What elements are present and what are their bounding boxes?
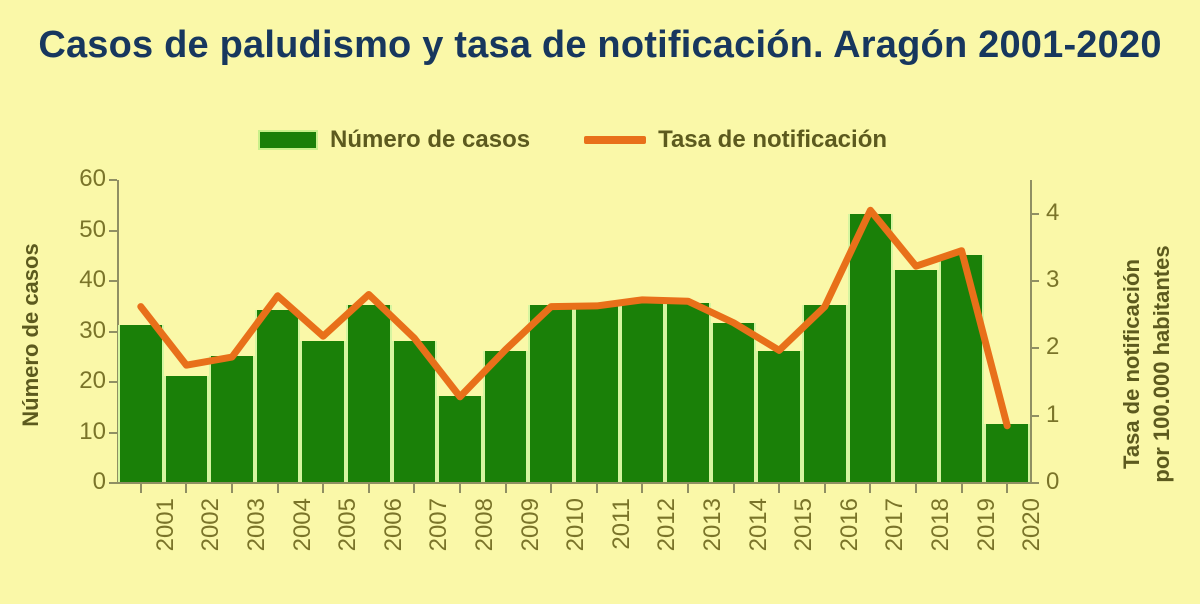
legend-bar-swatch-icon — [258, 130, 318, 150]
legend-line-swatch-icon — [584, 136, 646, 144]
x-axis-tick-label: 2006 — [380, 498, 408, 551]
legend-label-casos: Número de casos — [330, 126, 530, 154]
y-left-tick — [109, 381, 117, 383]
x-axis-tick-label: 2008 — [471, 498, 499, 551]
x-axis-tick-label: 2020 — [1018, 498, 1046, 551]
x-axis-tick — [277, 483, 279, 493]
y-right-tick-label: 0 — [1046, 470, 1106, 494]
x-axis-tick — [733, 483, 735, 493]
x-axis-tick — [185, 483, 187, 493]
x-axis-tick-label: 2017 — [881, 498, 909, 551]
legend-item-casos: Número de casos — [258, 126, 530, 154]
chart-page: Casos de paludismo y tasa de notificació… — [0, 0, 1200, 604]
y-left-tick-label: 20 — [36, 369, 106, 393]
x-axis-tick — [140, 483, 142, 493]
x-axis-tick — [961, 483, 963, 493]
x-axis-tick — [505, 483, 507, 493]
y-axis-right-title-line2: por 100.000 habitantes — [1147, 229, 1177, 499]
line-series-tasa — [118, 180, 1030, 483]
y-right-tick-label: 1 — [1046, 403, 1106, 427]
x-axis-tick-label: 2013 — [699, 498, 727, 551]
x-axis-tick — [368, 483, 370, 493]
x-axis-tick-label: 2003 — [243, 498, 271, 551]
y-left-tick-label: 60 — [36, 167, 106, 191]
x-axis-tick — [459, 483, 461, 493]
y-left-tick — [109, 230, 117, 232]
x-axis-tick — [550, 483, 552, 493]
x-axis-tick-label: 2004 — [289, 498, 317, 551]
x-axis-tick-label: 2009 — [517, 498, 545, 551]
y-right-tick-label: 2 — [1046, 335, 1106, 359]
x-axis-tick — [231, 483, 233, 493]
x-axis-tick — [1006, 483, 1008, 493]
y-left-tick-label: 0 — [36, 470, 106, 494]
y-right-tick — [1031, 415, 1039, 417]
y-left-tick — [109, 280, 117, 282]
axis-right-line — [1030, 180, 1032, 484]
chart-title: Casos de paludismo y tasa de notificació… — [0, 24, 1200, 67]
x-axis-tick-label: 2002 — [197, 498, 225, 551]
x-axis-tick — [778, 483, 780, 493]
x-axis-tick-label: 2010 — [562, 498, 590, 551]
x-axis-tick — [687, 483, 689, 493]
x-axis-tick — [641, 483, 643, 493]
y-left-tick — [109, 432, 117, 434]
x-axis-tick-label: 2012 — [653, 498, 681, 551]
x-axis-tick-label: 2018 — [927, 498, 955, 551]
y-right-tick-label: 4 — [1046, 201, 1106, 225]
x-axis-tick — [824, 483, 826, 493]
x-axis-tick-label: 2001 — [152, 498, 180, 551]
y-left-tick — [109, 179, 117, 181]
x-axis-tick-label: 2016 — [836, 498, 864, 551]
x-axis-tick-label: 2015 — [790, 498, 818, 551]
y-axis-right-title-line1: Tasa de notificación — [1117, 229, 1147, 499]
y-right-tick — [1031, 482, 1039, 484]
x-axis-tick — [596, 483, 598, 493]
y-right-tick — [1031, 280, 1039, 282]
y-left-tick-label: 30 — [36, 319, 106, 343]
legend-item-tasa: Tasa de notificación — [584, 126, 887, 154]
x-axis-tick-label: 2005 — [334, 498, 362, 551]
x-axis-tick — [869, 483, 871, 493]
x-axis-tick-label: 2014 — [745, 498, 773, 551]
y-left-tick-label: 10 — [36, 420, 106, 444]
y-right-tick — [1031, 347, 1039, 349]
x-axis-tick-label: 2011 — [608, 498, 636, 550]
y-right-tick — [1031, 213, 1039, 215]
plot-area: 0102030405060 01234 20012002200320042005… — [118, 180, 1030, 483]
y-left-tick — [109, 482, 117, 484]
x-axis-tick-label: 2007 — [425, 498, 453, 551]
legend-label-tasa: Tasa de notificación — [658, 126, 887, 154]
y-left-tick-label: 50 — [36, 218, 106, 242]
y-right-tick-label: 3 — [1046, 268, 1106, 292]
x-axis-tick — [322, 483, 324, 493]
y-left-tick-label: 40 — [36, 268, 106, 292]
x-axis-tick — [413, 483, 415, 493]
x-axis-tick — [915, 483, 917, 493]
y-left-tick — [109, 331, 117, 333]
x-axis-tick-label: 2019 — [973, 498, 1001, 551]
chart-legend: Número de casos Tasa de notificación — [258, 126, 887, 154]
